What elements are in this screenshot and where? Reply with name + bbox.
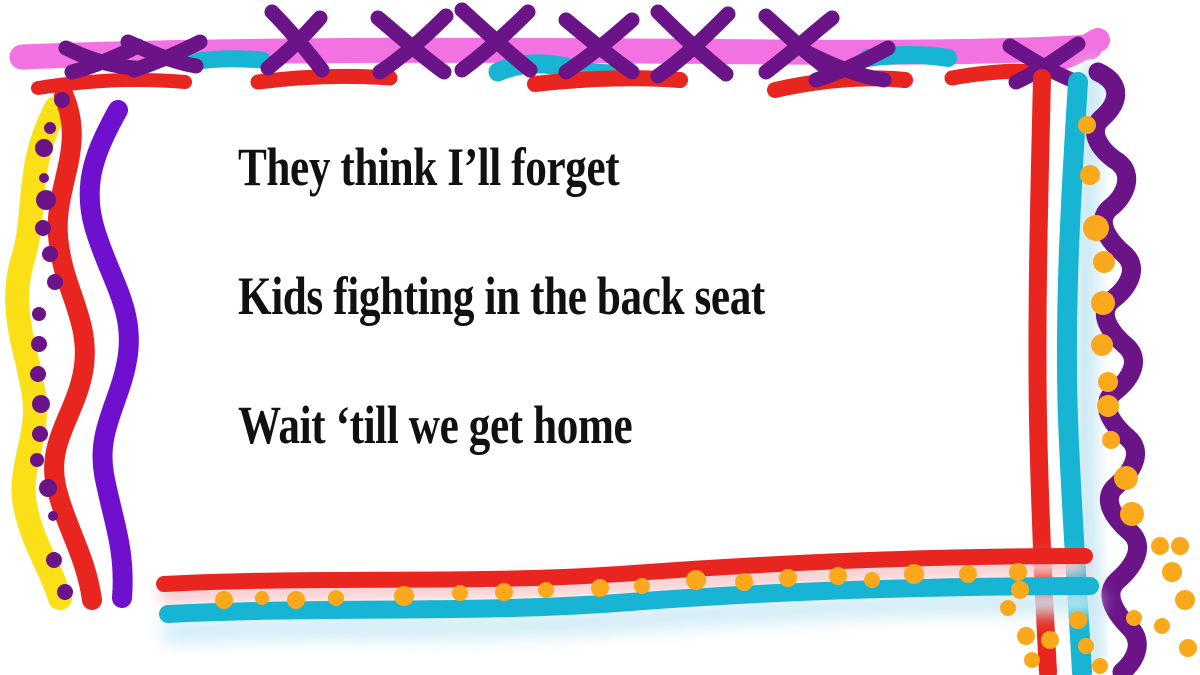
right-border-group [1037, 72, 1197, 672]
right-blue-glow [1084, 75, 1092, 660]
top-red-dash-3 [535, 78, 680, 84]
slide-canvas: They think I’ll forget Kids fighting in … [0, 0, 1200, 675]
left-border-group [17, 92, 129, 600]
bottom-border-group [164, 556, 1142, 674]
top-pink-band [22, 47, 1090, 57]
left-purple-dots [30, 92, 73, 600]
lyric-line-1: They think I’ll forget [238, 140, 862, 194]
top-purple-x-6 [566, 20, 632, 72]
right-red-line [1037, 78, 1048, 672]
bottom-red-wave [164, 556, 1085, 584]
lyric-line-2: Kids fighting in the back seat [238, 269, 862, 323]
top-red-dash-4 [775, 78, 905, 90]
top-red-dash-5 [952, 71, 1040, 78]
top-border-group [22, 10, 1098, 90]
top-purple-x-10 [1010, 44, 1078, 82]
top-purple-x-3 [268, 12, 322, 70]
right-orange-dots [1078, 116, 1197, 657]
left-yellow-wave [17, 108, 60, 598]
bottom-orange-dots [215, 563, 1142, 674]
top-purple-x-2 [128, 42, 200, 70]
lyric-line-3: Wait ‘till we get home [238, 398, 862, 452]
top-purple-x-8 [766, 16, 832, 72]
bottom-pink-glow [168, 566, 1080, 594]
left-red-wave [54, 96, 92, 600]
top-purple-x-5 [462, 10, 530, 70]
left-purple-wave [90, 110, 129, 598]
lyrics-block: They think I’ll forget Kids fighting in … [238, 140, 1018, 500]
top-purple-x-1 [66, 46, 138, 72]
top-cyan-dash-1 [192, 59, 262, 62]
right-purple-zigzag [1095, 72, 1137, 672]
bottom-cyan-wave [168, 586, 1090, 614]
top-cyan-dash-3 [868, 55, 948, 58]
top-red-dash-2 [258, 76, 390, 82]
top-cyan-dash-2 [498, 64, 612, 74]
top-pink-band-tip [1055, 40, 1098, 60]
right-cyan-line [1067, 82, 1082, 672]
top-purple-x-7 [658, 12, 728, 76]
top-red-dash-1 [38, 80, 185, 88]
top-purple-x-4 [378, 16, 446, 72]
top-purple-x-9 [810, 48, 888, 80]
bottom-blue-glow [172, 602, 1090, 632]
